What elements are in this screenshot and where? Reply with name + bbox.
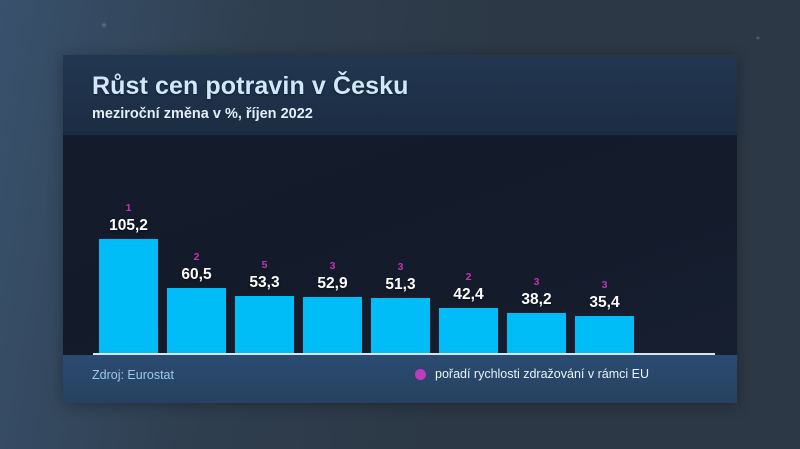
legend-circle-icon xyxy=(415,369,426,380)
bar-value-label: 35,4 xyxy=(589,294,619,312)
bar-value-label: 60,5 xyxy=(181,266,211,284)
bar-group[interactable]: 51,33 xyxy=(371,135,430,355)
bar-rank-label: 1 xyxy=(126,202,132,214)
bar-value-label: 38,2 xyxy=(521,291,551,309)
bar[interactable] xyxy=(371,298,430,355)
chart-footer: Zdroj: Eurostat pořadí rychlosti zdražov… xyxy=(63,355,737,403)
chart-header: Růst cen potravin v Česku meziroční změn… xyxy=(63,55,737,135)
bar-group[interactable]: 38,23 xyxy=(507,135,566,355)
bar-group[interactable]: 53,35 xyxy=(235,135,294,355)
bar-group[interactable]: 105,21 xyxy=(99,135,158,355)
bar-group[interactable]: 60,52 xyxy=(167,135,226,355)
bar-rank-label: 3 xyxy=(602,279,608,291)
bar[interactable] xyxy=(303,297,362,355)
chart-subtitle: meziroční změna v %, říjen 2022 xyxy=(92,106,313,122)
bar-group[interactable]: 52,93 xyxy=(303,135,362,355)
bar-rank-label: 3 xyxy=(398,261,404,273)
legend: pořadí rychlosti zdražování v rámci EU xyxy=(415,367,649,381)
bar[interactable] xyxy=(507,313,566,355)
bar[interactable] xyxy=(235,296,294,355)
source-label: Zdroj: Eurostat xyxy=(92,368,174,382)
bar-group[interactable]: 35,43 xyxy=(575,135,634,355)
bar[interactable] xyxy=(167,288,226,355)
bar-value-label: 51,3 xyxy=(385,276,415,294)
bar-rank-label: 2 xyxy=(466,271,472,283)
bar[interactable] xyxy=(575,316,634,355)
legend-label: pořadí rychlosti zdražování v rámci EU xyxy=(435,367,649,381)
bar-group[interactable]: 42,42 xyxy=(439,135,498,355)
bar-rank-label: 3 xyxy=(534,276,540,288)
bar-value-label: 105,2 xyxy=(109,217,148,235)
bar[interactable] xyxy=(99,239,158,355)
bar-value-label: 53,3 xyxy=(249,274,279,292)
bar-rank-label: 3 xyxy=(330,260,336,272)
screenshot-root: Růst cen potravin v Česku meziroční změn… xyxy=(0,0,800,449)
chart-card: Růst cen potravin v Česku meziroční změn… xyxy=(63,55,737,403)
bar-value-label: 42,4 xyxy=(453,286,483,304)
bar-rank-label: 5 xyxy=(262,259,268,271)
bar-series: 105,2160,5253,3552,9351,3342,4238,2335,4… xyxy=(99,135,709,355)
bar[interactable] xyxy=(439,308,498,355)
bar-value-label: 52,9 xyxy=(317,275,347,293)
chart-title: Růst cen potravin v Česku xyxy=(92,72,408,101)
plot-area: 105,2160,5253,3552,9351,3342,4238,2335,4… xyxy=(63,135,737,355)
bar-rank-label: 2 xyxy=(194,251,200,263)
